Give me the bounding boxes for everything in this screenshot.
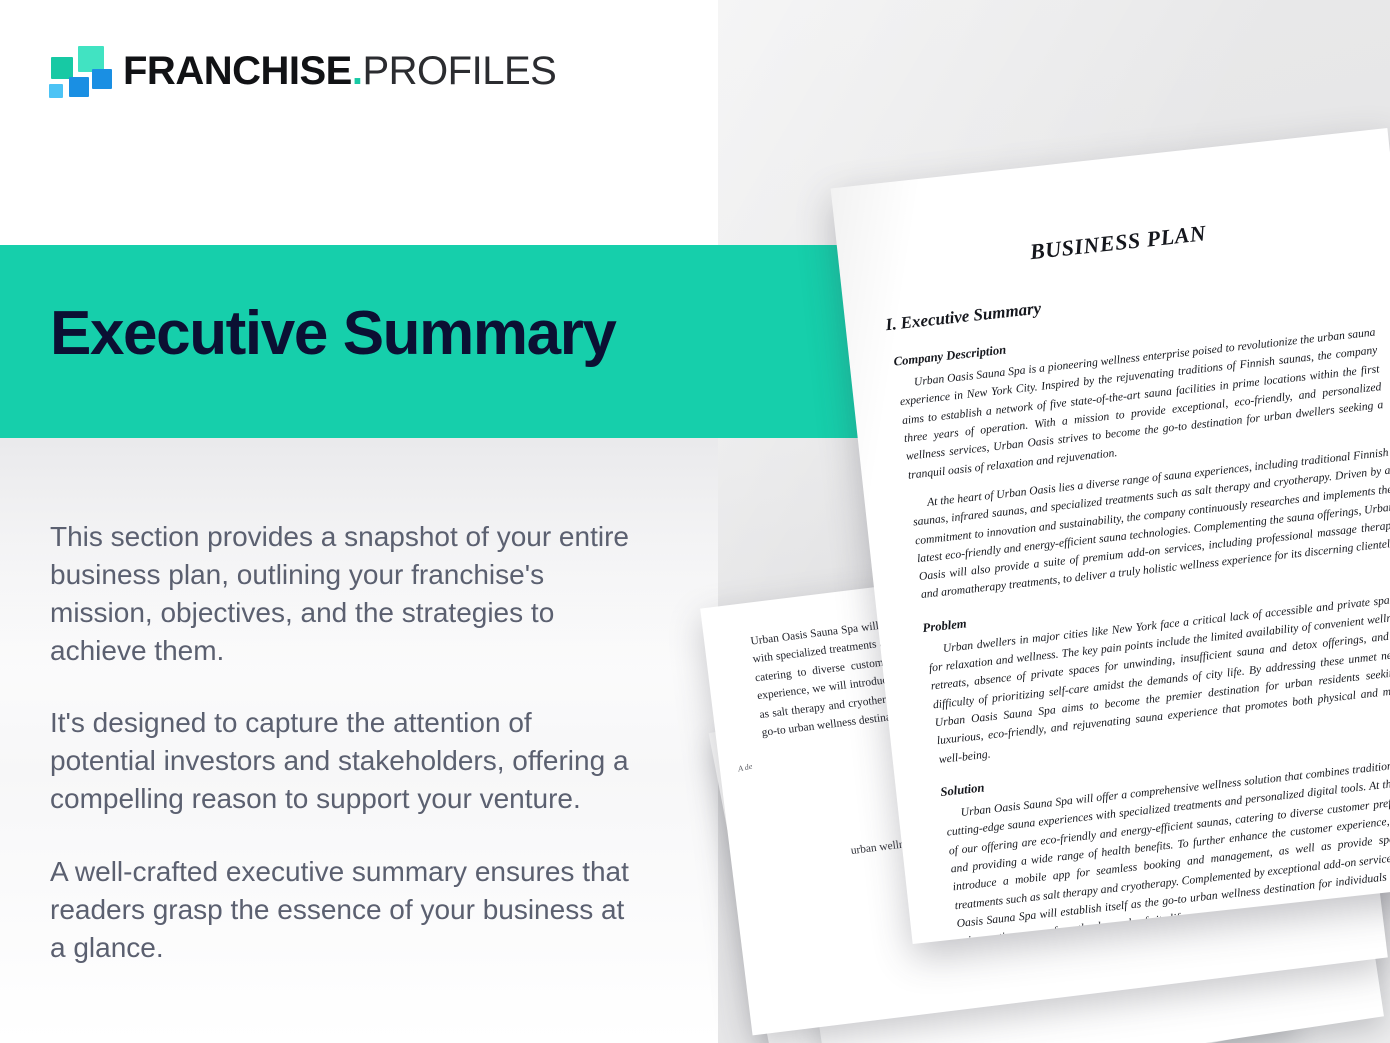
- brand-wordmark: FRANCHISE.PROFILES: [123, 51, 556, 91]
- brand-logo[interactable]: FRANCHISE.PROFILES: [47, 45, 556, 97]
- body-paragraph-2: It's designed to capture the attention o…: [50, 704, 630, 818]
- document-page-top: BUSINESS PLAN I. Executive Summary Compa…: [831, 128, 1390, 944]
- body-copy: This section provides a snapshot of your…: [50, 518, 630, 967]
- document-page-content: BUSINESS PLAN I. Executive Summary Compa…: [831, 128, 1390, 944]
- brand-name-dot: .: [352, 49, 363, 93]
- document-subsection-company-description: Company Description Urban Oasis Sauna Sp…: [883, 303, 1390, 606]
- body-paragraph-1: This section provides a snapshot of your…: [50, 518, 630, 670]
- brand-name-light: PROFILES: [362, 49, 556, 93]
- document-stack: Urban Oasis Sauna Spa will offer a compr…: [700, 120, 1390, 1043]
- slide-canvas: FRANCHISE.PROFILES Urban Oasis Sauna Spa…: [0, 0, 1390, 1043]
- logo-square-teal: [51, 57, 73, 79]
- body-paragraph-3: A well-crafted executive summary ensures…: [50, 853, 630, 967]
- logo-square-sky: [49, 84, 63, 98]
- brand-name-bold: FRANCHISE: [123, 49, 352, 93]
- page-title: Executive Summary: [50, 303, 616, 365]
- logo-square-blue-upper: [92, 69, 112, 89]
- document-subsection-problem: Problem Urban dwellers in major cities l…: [912, 569, 1390, 770]
- logo-square-blue-lower: [69, 77, 89, 97]
- logo-squares-icon: [47, 45, 107, 97]
